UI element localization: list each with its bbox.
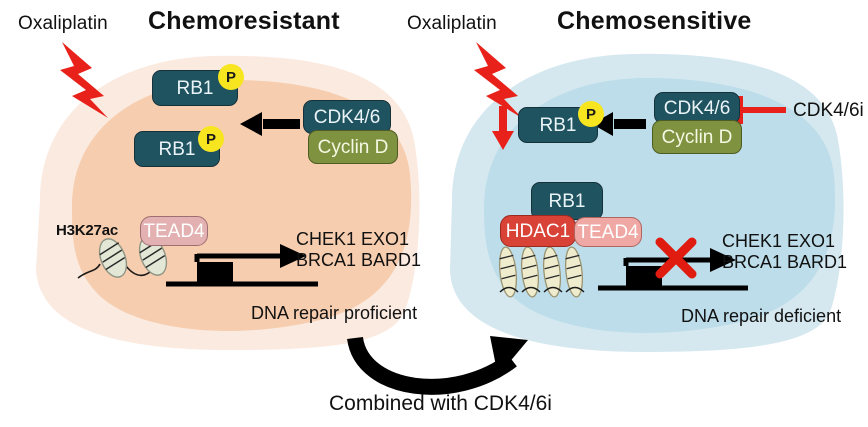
right-hdac1-node[interactable]: HDAC1 [500,215,576,247]
left-cyclind-label: Cyclin D [318,138,389,157]
right-rb1-top-label: RB1 [540,116,577,135]
left-rb1-bottom-label: RB1 [159,140,196,159]
left-gene-line-2: BRCA1 BARD1 [296,250,421,270]
right-rb1-phospho-icon: P [578,101,604,127]
figure-canvas: Oxaliplatin Chemoresistant RB1 P RB1 P C… [0,0,868,427]
left-cdk46-node[interactable]: CDK4/6 [303,100,391,134]
right-oxaliplatin-label: Oxaliplatin [407,14,497,33]
left-panel-title: Chemoresistant [148,9,340,34]
right-cdk46-label: CDK4/6 [664,99,731,118]
left-cyclind-node[interactable]: Cyclin D [308,130,398,164]
left-rb1-bottom-phospho-icon: P [198,126,224,152]
right-tead4-label: TEAD4 [577,223,638,242]
right-gene-line-1: CHEK1 EXO1 [722,231,835,251]
right-gene-line-2: BRCA1 BARD1 [722,252,847,272]
transition-arrow-layer [0,0,868,427]
left-gene-line-1: CHEK1 EXO1 [296,229,409,249]
curved-transition-arrow-icon [355,336,528,387]
left-cdk46-label: CDK4/6 [314,108,381,127]
left-status-label: DNA repair proficient [251,304,417,322]
right-status-label: DNA repair deficient [681,307,841,325]
right-panel-title: Chemosensitive [557,9,752,34]
figure-caption: Combined with CDK4/6i [329,393,552,414]
right-hdac1-label: HDAC1 [506,222,570,241]
left-h3k27ac-label: H3K27ac [56,223,118,238]
left-tead4-label: TEAD4 [143,222,204,241]
right-rb1-bottom-label: RB1 [549,192,586,211]
cdk46i-label: CDK4/6i [793,101,864,120]
right-cyclind-node[interactable]: Cyclin D [652,120,742,154]
right-tead4-node[interactable]: TEAD4 [574,217,642,247]
left-tead4-node[interactable]: TEAD4 [140,216,208,246]
left-rb1-top-label: RB1 [177,79,214,98]
left-oxaliplatin-label: Oxaliplatin [18,14,108,33]
right-cyclind-label: Cyclin D [662,128,733,147]
left-rb1-top-phospho-icon: P [218,64,244,90]
